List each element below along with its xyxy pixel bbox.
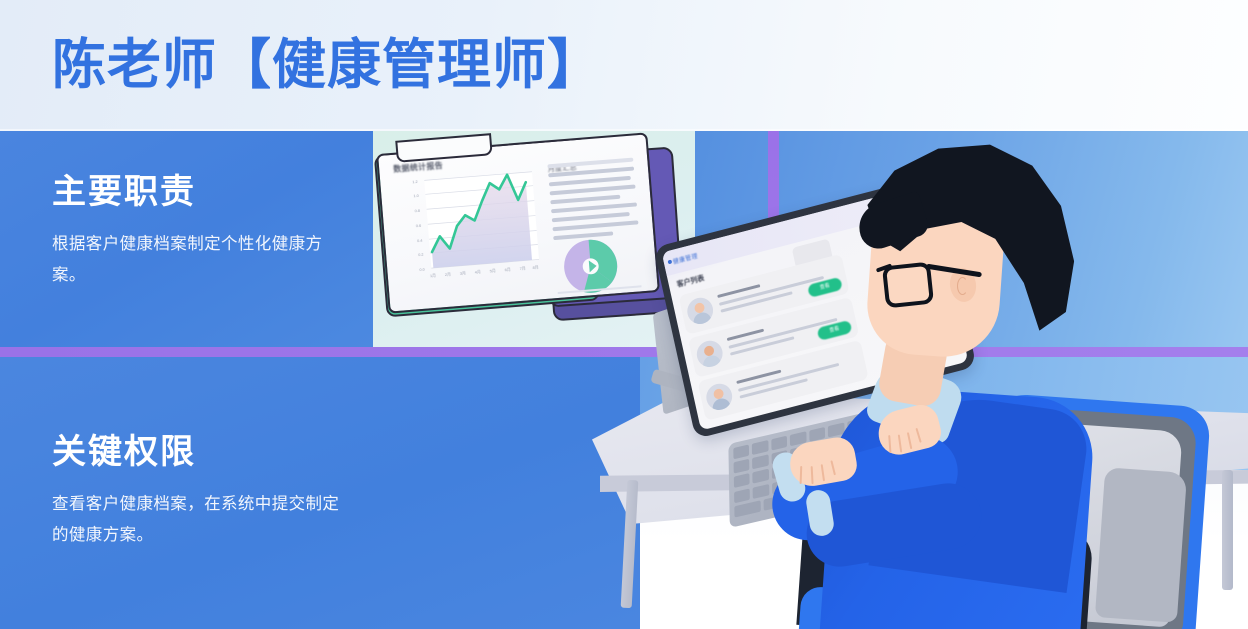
app-logo-label: 健康管理 — [672, 251, 699, 266]
header-divider — [0, 129, 1248, 131]
report-text-lines — [547, 158, 639, 246]
section-heading: 主要职责 — [52, 172, 352, 212]
line-chart-svg: 1.21.0 0.80.6 0.40.2 0.0 1月2月 3月4月 5月6月 … — [406, 170, 542, 284]
desk-leg-right — [1222, 470, 1233, 590]
avatar — [704, 381, 735, 413]
client-list-heading: 客户列表 — [676, 273, 705, 290]
svg-text:1.0: 1.0 — [413, 194, 419, 198]
header-band: 陈老师【健康管理师】 — [0, 0, 1248, 131]
svg-text:6月: 6月 — [505, 267, 511, 272]
slide-canvas: 数据统计报告 月度汇总 — [0, 0, 1248, 629]
svg-text:2月: 2月 — [445, 272, 451, 277]
svg-text:5月: 5月 — [490, 268, 496, 273]
svg-text:0.2: 0.2 — [418, 253, 424, 257]
decor-purple-horizontal-stripe — [0, 347, 1248, 357]
section-heading: 关键权限 — [52, 432, 352, 472]
svg-text:0.8: 0.8 — [415, 209, 421, 213]
glasses-lens-icon — [882, 262, 934, 309]
svg-text:1月: 1月 — [430, 273, 436, 278]
svg-text:8月: 8月 — [532, 264, 538, 269]
avatar — [685, 295, 716, 327]
person-ear-inner — [957, 277, 968, 295]
report-line-chart: 1.21.0 0.80.6 0.40.2 0.0 1月2月 3月4月 5月6月 … — [406, 170, 542, 284]
svg-text:0.6: 0.6 — [416, 224, 422, 228]
section-key-permissions: 关键权限 查看客户健康档案，在系统中提交制定的健康方案。 — [52, 432, 352, 551]
avatar — [694, 338, 725, 370]
page-title: 陈老师【健康管理师】 — [52, 34, 602, 96]
section-body: 查看客户健康档案，在系统中提交制定的健康方案。 — [52, 489, 352, 551]
section-body: 根据客户健康档案制定个性化健康方案。 — [52, 229, 352, 291]
app-logo-icon — [667, 259, 672, 264]
svg-text:4月: 4月 — [475, 269, 481, 274]
section-primary-duties: 主要职责 根据客户健康档案制定个性化健康方案。 — [52, 172, 352, 291]
svg-text:0.0: 0.0 — [419, 268, 425, 272]
svg-text:3月: 3月 — [460, 270, 466, 275]
svg-text:7月: 7月 — [519, 266, 525, 271]
svg-text:0.4: 0.4 — [417, 239, 423, 243]
report-title: 数据统计报告 — [393, 160, 444, 175]
chair-backrest-shadow — [1095, 467, 1187, 622]
clipboard-illustration: 数据统计报告 月度汇总 — [368, 139, 688, 324]
svg-text:1.2: 1.2 — [412, 180, 418, 184]
